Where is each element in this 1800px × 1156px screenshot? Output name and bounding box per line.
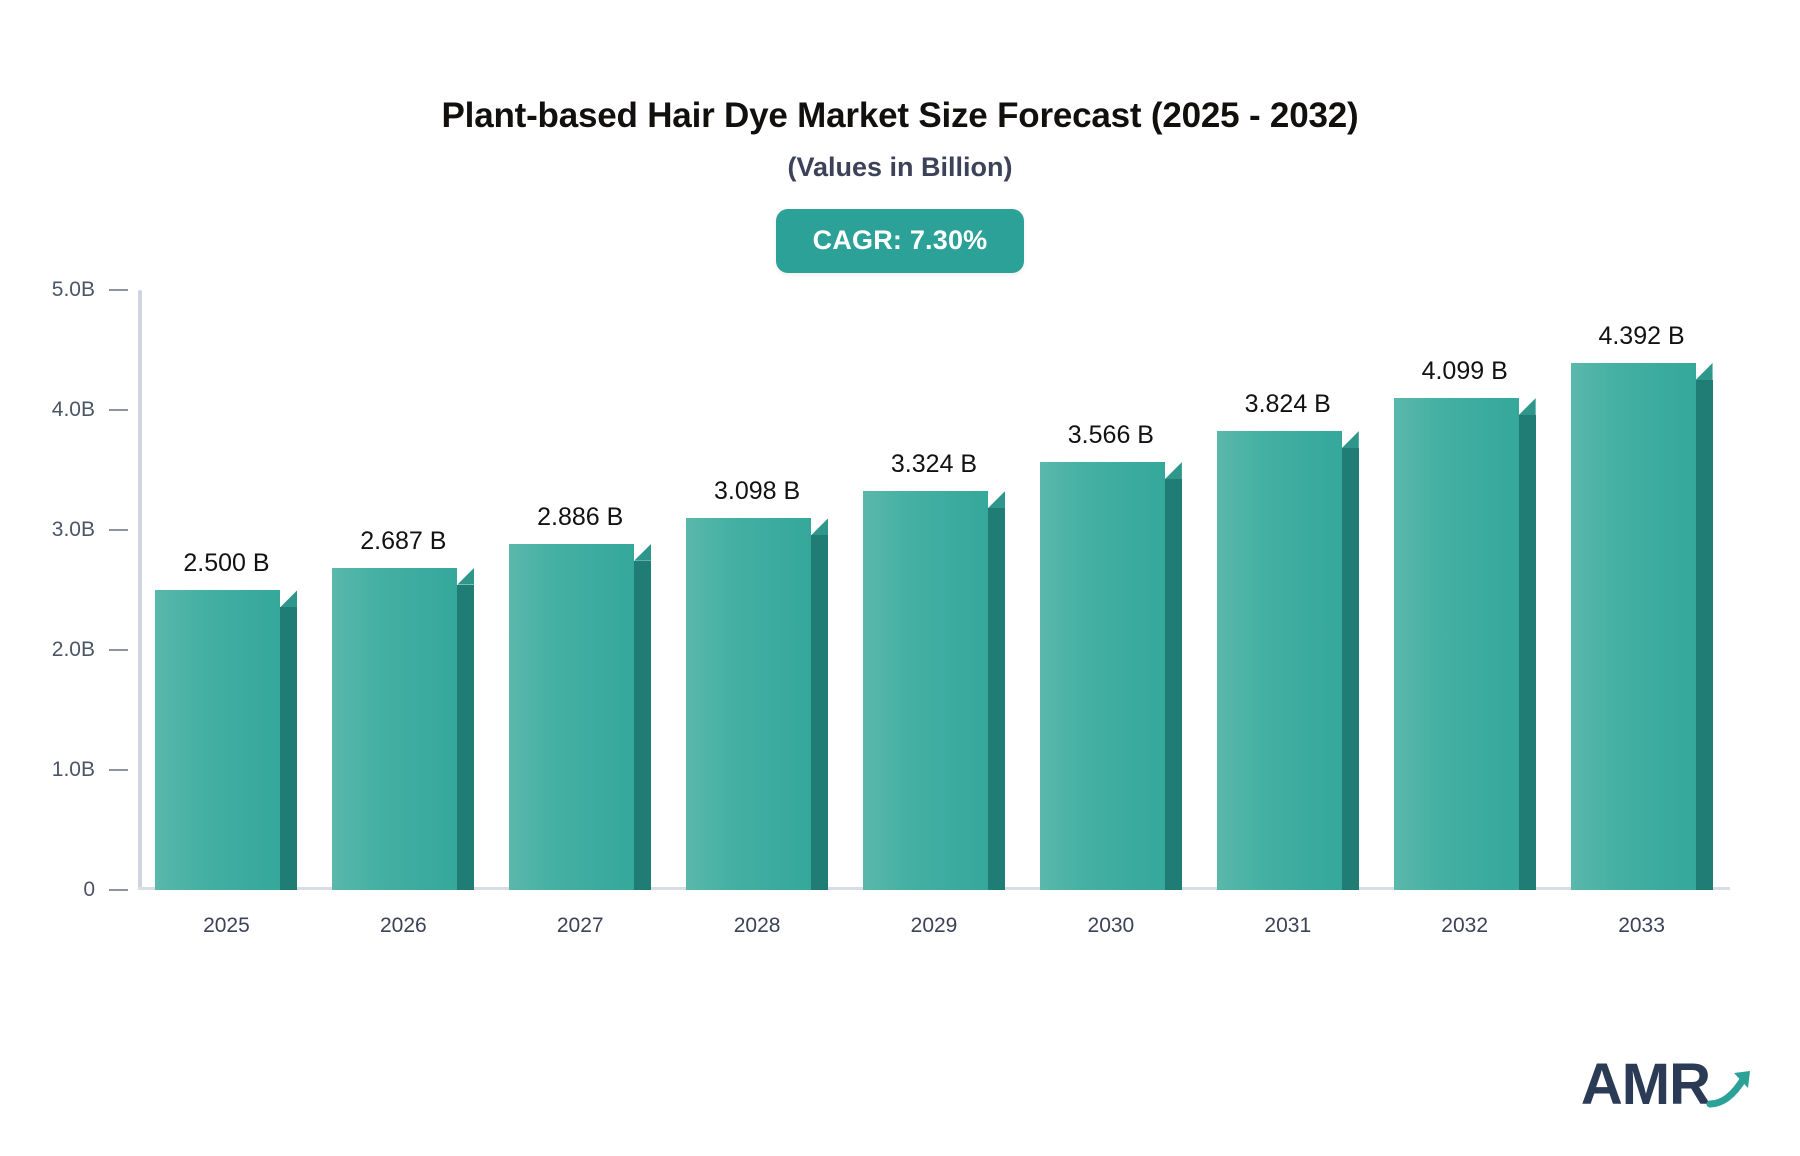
- bar[interactable]: [1040, 290, 1182, 890]
- bar-front-face: [1394, 398, 1519, 890]
- bar-side-face: [1165, 479, 1182, 890]
- bar-top-face: [1342, 431, 1359, 448]
- bar-value-label: 4.392 B: [1571, 322, 1713, 351]
- bar-group[interactable]: 4.392 B: [1571, 290, 1713, 890]
- bar-top-face: [988, 491, 1005, 508]
- bar-value-label: 4.099 B: [1394, 357, 1536, 386]
- bar[interactable]: [686, 290, 828, 890]
- bar-front-face: [1040, 462, 1165, 890]
- bar-side-face: [457, 585, 474, 890]
- bar-value-label: 3.566 B: [1040, 421, 1182, 450]
- x-axis-tick-label: 2028: [697, 914, 817, 938]
- bar-side-face: [280, 607, 297, 890]
- status-badge: CAGR: 7.30%: [776, 209, 1025, 273]
- x-axis-tick-label: 2027: [520, 914, 640, 938]
- bar-front-face: [1571, 363, 1696, 890]
- y-axis-tick-mark: [109, 649, 128, 651]
- bar[interactable]: [1217, 290, 1359, 890]
- y-axis-tick: 4.0B: [21, 398, 138, 422]
- x-axis-tick-label: 2029: [874, 914, 994, 938]
- bar-side-face: [988, 508, 1005, 890]
- chart-container: Plant-based Hair Dye Market Size Forecas…: [0, 0, 1800, 1156]
- page-title: Plant-based Hair Dye Market Size Forecas…: [0, 96, 1800, 136]
- bar-top-face: [811, 518, 828, 535]
- bar-front-face: [686, 518, 811, 890]
- y-axis-tick-label: 2.0B: [21, 638, 95, 662]
- bar-value-label: 3.098 B: [686, 477, 828, 506]
- x-axis-tick-label: 2031: [1228, 914, 1348, 938]
- bar-value-label: 3.324 B: [863, 450, 1005, 479]
- bar[interactable]: [155, 290, 297, 890]
- arrow-up-right-icon: [1706, 1064, 1754, 1112]
- y-axis-tick: 3.0B: [21, 518, 138, 542]
- bar-series: 2.500 B2.687 B2.886 B3.098 B3.324 B3.566…: [138, 290, 1730, 890]
- bar-group[interactable]: 2.500 B: [155, 290, 297, 890]
- y-axis-tick-label: 5.0B: [21, 278, 95, 302]
- chart-subtitle: (Values in Billion): [0, 136, 1800, 183]
- logo-text: AMR: [1581, 1056, 1710, 1114]
- y-axis-tick-mark: [109, 889, 128, 891]
- bar-group[interactable]: 3.824 B: [1217, 290, 1359, 890]
- y-axis-tick-label: 1.0B: [21, 758, 95, 782]
- bar-front-face: [332, 568, 457, 890]
- bar-front-face: [863, 491, 988, 890]
- bar-value-label: 2.500 B: [155, 549, 297, 578]
- cagr-badge-wrap: CAGR: 7.30%: [0, 209, 1800, 273]
- y-axis-tick-label: 0: [21, 878, 95, 902]
- x-axis-tick-label: 2030: [1051, 914, 1171, 938]
- bar-side-face: [634, 561, 651, 890]
- plot-area: 01.0B2.0B3.0B4.0B5.0B 2.500 B2.687 B2.88…: [138, 290, 1730, 890]
- x-axis-tick-label: 2025: [166, 914, 286, 938]
- bar-group[interactable]: 4.099 B: [1394, 290, 1536, 890]
- bar-group[interactable]: 3.324 B: [863, 290, 1005, 890]
- bar-top-face: [280, 590, 297, 607]
- y-axis-tick-mark: [109, 289, 128, 291]
- y-axis-tick-label: 4.0B: [21, 398, 95, 422]
- bar-group[interactable]: 3.098 B: [686, 290, 828, 890]
- y-axis-tick-mark: [109, 409, 128, 411]
- x-axis-tick-label: 2033: [1582, 914, 1702, 938]
- bar[interactable]: [863, 290, 1005, 890]
- bar-value-label: 2.886 B: [509, 503, 651, 532]
- y-axis-tick: 1.0B: [21, 758, 138, 782]
- y-axis-tick-label: 3.0B: [21, 518, 95, 542]
- chart-header: Plant-based Hair Dye Market Size Forecas…: [0, 0, 1800, 273]
- y-axis-tick-mark: [109, 769, 128, 771]
- bar-side-face: [1519, 415, 1536, 890]
- bar-front-face: [1217, 431, 1342, 890]
- y-axis-tick: 0: [21, 878, 138, 902]
- x-axis-tick-label: 2032: [1405, 914, 1525, 938]
- bar-value-label: 2.687 B: [332, 527, 474, 556]
- bar-top-face: [1696, 363, 1713, 380]
- bar-value-label: 3.824 B: [1217, 390, 1359, 419]
- bar[interactable]: [332, 290, 474, 890]
- x-axis-tick-label: 2026: [343, 914, 463, 938]
- bar-side-face: [1342, 448, 1359, 890]
- y-axis-tick: 5.0B: [21, 278, 138, 302]
- y-axis-tick: 2.0B: [21, 638, 138, 662]
- bar-group[interactable]: 3.566 B: [1040, 290, 1182, 890]
- bar[interactable]: [509, 290, 651, 890]
- bar-top-face: [1519, 398, 1536, 415]
- bar-top-face: [457, 568, 474, 585]
- bar-front-face: [155, 590, 280, 890]
- amr-logo: AMR: [1581, 1056, 1754, 1114]
- bar-group[interactable]: 2.687 B: [332, 290, 474, 890]
- y-axis-tick-mark: [109, 529, 128, 531]
- bar-side-face: [811, 535, 828, 890]
- bar-front-face: [509, 544, 634, 890]
- bar-top-face: [1165, 462, 1182, 479]
- bar-top-face: [634, 544, 651, 561]
- bar-side-face: [1696, 380, 1713, 890]
- bar[interactable]: [1571, 290, 1713, 890]
- bar-group[interactable]: 2.886 B: [509, 290, 651, 890]
